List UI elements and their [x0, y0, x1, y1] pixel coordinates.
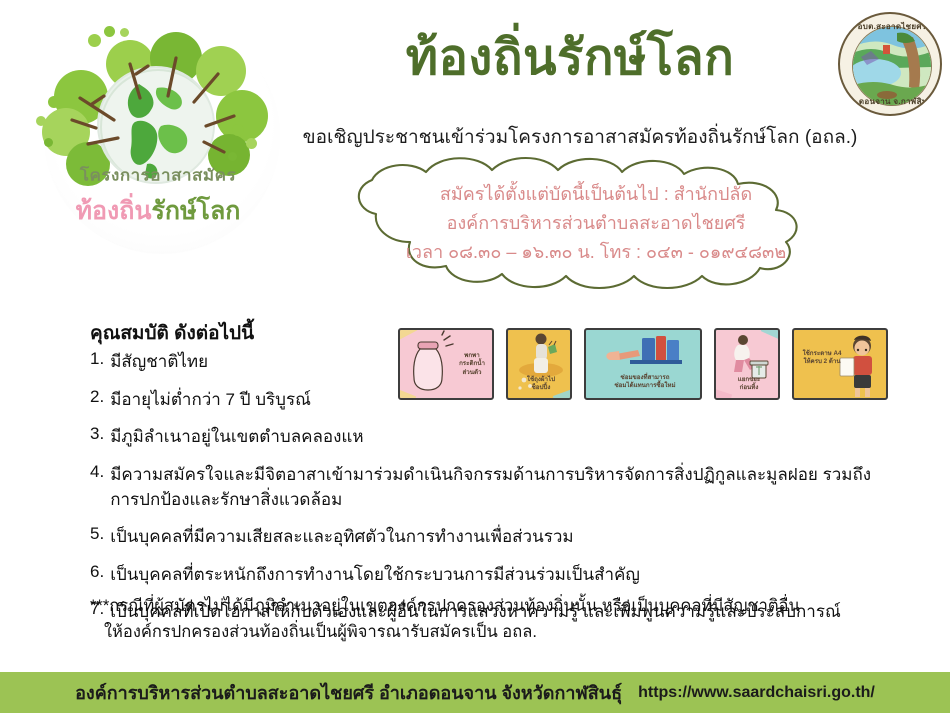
eco-card-repair: ซ่อมของที่สามารถซ่อมได้แทนการซื้อใหม่	[584, 328, 702, 400]
eco-card-cloth-bag: ใช้ถุงผ้าไปช็อปปิ้ง	[506, 328, 572, 400]
poster-root: โครงการอาสาสมัคร ท้องถิ่นรักษ์โลก อบต.สะ…	[0, 0, 950, 713]
note-line-2: ให้องค์กรปกครองส่วนท้องถิ่นเป็นผู้พิจารณ…	[90, 620, 890, 646]
eco-card-caption: ใช้ถุงผ้าไปช็อปปิ้ง	[510, 376, 572, 393]
seal-top-text: อบต.สะอาดไชยศรี	[840, 20, 942, 33]
eco-card-caption: ใช้กระดาษ A4ให้ครบ 2 ด้าน	[798, 350, 846, 367]
list-item-text: เป็นบุคคลที่ตระหนักถึงการทำงานโดยใช้กระบ…	[110, 563, 890, 588]
cloud-line-1: สมัครได้ตั้งแต่บัดนี้เป็นต้นไป : สำนักปล…	[318, 180, 874, 209]
eligibility-note: ***กรณีที่ผู้สมัครไม่ได้มีภูมิลำเนาอยู่ใ…	[90, 594, 890, 645]
eco-card-water-bottle: พกพากระติกน้ำส่วนตัว	[398, 328, 494, 400]
eco-card-caption: ซ่อมของที่สามารถซ่อมได้แทนการซื้อใหม่	[588, 374, 702, 391]
seal-artwork	[852, 26, 932, 106]
eco-card-paper: ใช้กระดาษ A4ให้ครบ 2 ด้าน	[792, 328, 888, 400]
list-item-number: 3.	[90, 425, 104, 450]
logo-subtitle: ท้องถิ่นรักษ์โลก	[18, 198, 298, 224]
logo-arc-text: โครงการอาสาสมัคร	[18, 163, 298, 188]
list-item: 3.มีภูมิลำเนาอยู่ในเขตตำบลคลองแห	[90, 425, 890, 450]
eco-card-caption: พกพากระติกน้ำส่วนตัว	[452, 352, 492, 377]
page-title: ท้องถิ่นรักษ์โลก	[300, 30, 840, 87]
list-item: 5.เป็นบุคคลที่มีความเสียสละและอุทิศตัวใน…	[90, 525, 890, 550]
footer-org-name: องค์การบริหารส่วนตำบลสะอาดไชยศรี อำเภอดอ…	[75, 678, 622, 707]
list-item-text: เป็นบุคคลที่มีความเสียสละและอุทิศตัวในกา…	[110, 525, 890, 550]
list-item-number: 1.	[90, 350, 104, 375]
eco-card-caption: แยกขยะก่อนทิ้ง	[718, 376, 780, 393]
cloud-callout: สมัครได้ตั้งแต่บัดนี้เป็นต้นไป : สำนักปล…	[318, 152, 874, 304]
footer-website-link[interactable]: https://www.saardchaisri.go.th/	[638, 684, 875, 702]
seal-bottom-text: อ.ดอนจาน จ.กาฬสินธุ์	[840, 95, 942, 108]
list-item: 4.มีความสมัครใจและมีจิตอาสาเข้ามาร่วมดำเ…	[90, 463, 890, 512]
cloud-text: สมัครได้ตั้งแต่บัดนี้เป็นต้นไป : สำนักปล…	[318, 180, 874, 267]
page-subtitle: ขอเชิญประชาชนเข้าร่วมโครงการอาสาสมัครท้อ…	[300, 122, 860, 152]
cloud-line-3: เวลา ๐๘.๓๐ – ๑๖.๓๐ น. โทร : ๐๔๓ - ๐๑๙๔๘๓…	[318, 238, 874, 267]
list-item-number: 5.	[90, 525, 104, 550]
list-item-text: มีภูมิลำเนาอยู่ในเขตตำบลคลองแห	[110, 425, 890, 450]
eco-tip-cards: พกพากระติกน้ำส่วนตัว ใช้ถุงผ้าไปช็อปปิ้ง	[398, 328, 888, 406]
footer-bar: องค์การบริหารส่วนตำบลสะอาดไชยศรี อำเภอดอ…	[0, 672, 950, 713]
note-line-1: ***กรณีที่ผู้สมัครไม่ได้มีภูมิลำเนาอยู่ใ…	[90, 597, 800, 615]
list-item-number: 4.	[90, 463, 104, 512]
list-item-text: มีความสมัครใจและมีจิตอาสาเข้ามาร่วมดำเนิ…	[110, 463, 890, 512]
list-item: 6.เป็นบุคคลที่ตระหนักถึงการทำงานโดยใช้กร…	[90, 563, 890, 588]
logo-name-pink: ท้องถิ่น	[76, 197, 152, 225]
project-logo: โครงการอาสาสมัคร ท้องถิ่นรักษ์โลก	[18, 12, 298, 274]
eco-card-sort-waste: แยกขยะก่อนทิ้ง	[714, 328, 780, 400]
list-item-number: 2.	[90, 388, 104, 413]
cloud-line-2: องค์การบริหารส่วนตำบลสะอาดไชยศรี	[318, 209, 874, 238]
list-item-number: 6.	[90, 563, 104, 588]
municipal-seal-icon: อบต.สะอาดไชยศรี อ.ดอนจาน จ.กาฬสินธุ์	[838, 12, 942, 116]
logo-name-green: รักษ์โลก	[152, 197, 241, 225]
qualifications-heading: คุณสมบัติ ดังต่อไปนี้	[90, 318, 254, 348]
